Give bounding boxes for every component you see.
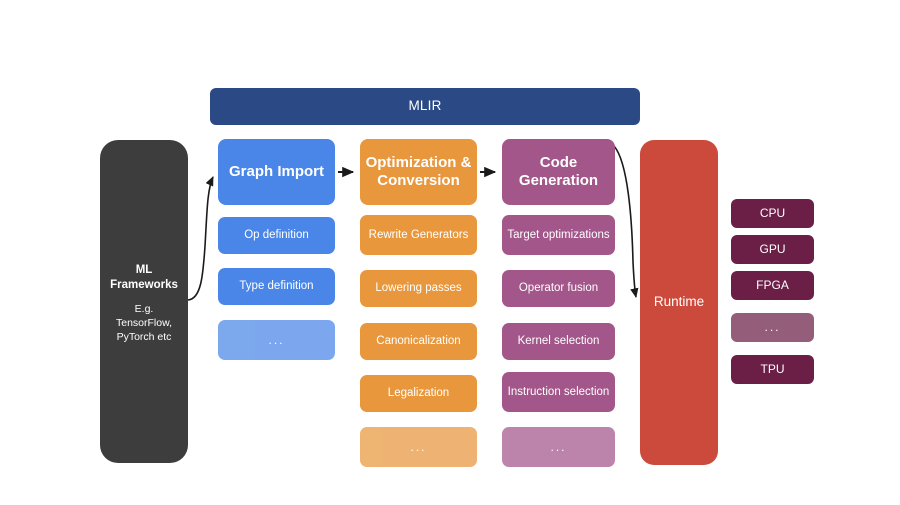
item-target-optimizations[interactable]: Target optimizations [502,215,615,255]
stage-optimization-conversion[interactable]: Optimization & Conversion [360,139,477,205]
item-instruction-selection[interactable]: Instruction selection [502,372,615,412]
item-rewrite-generators[interactable]: Rewrite Generators [360,215,477,255]
item-op-definition[interactable]: Op definition [218,217,335,254]
item-code-generation-more[interactable]: ... [502,427,615,467]
arrow-frameworks-to-graph-import [188,177,213,300]
arrow-code-generation-to-runtime [614,146,636,297]
stage-graph-import[interactable]: Graph Import [218,139,335,205]
item-kernel-selection[interactable]: Kernel selection [502,323,615,360]
item-optimization-more[interactable]: ... [360,427,477,467]
ml-frameworks-title: ML Frameworks [106,263,182,293]
ml-frameworks-subtitle: E.g. TensorFlow, PyTorch etc [106,303,182,340]
item-graph-import-more[interactable]: ... [218,320,335,360]
mlir-title-bar: MLIR [210,88,640,125]
hardware-target-tpu[interactable]: TPU [731,355,814,384]
hardware-target-fpga[interactable]: FPGA [731,271,814,300]
item-type-definition[interactable]: Type definition [218,268,335,305]
hardware-target-more[interactable]: ... [731,313,814,342]
ml-frameworks-panel: ML Frameworks E.g. TensorFlow, PyTorch e… [100,140,188,463]
item-canonicalization[interactable]: Canonicalization [360,323,477,360]
hardware-target-gpu[interactable]: GPU [731,235,814,264]
item-legalization[interactable]: Legalization [360,375,477,412]
runtime-panel: Runtime [640,140,718,465]
stage-code-generation[interactable]: Code Generation [502,139,615,205]
item-lowering-passes[interactable]: Lowering passes [360,270,477,307]
diagram-canvas: MLIR ML Frameworks E.g. TensorFlow, PyTo… [0,0,900,505]
item-operator-fusion[interactable]: Operator fusion [502,270,615,307]
hardware-target-cpu[interactable]: CPU [731,199,814,228]
